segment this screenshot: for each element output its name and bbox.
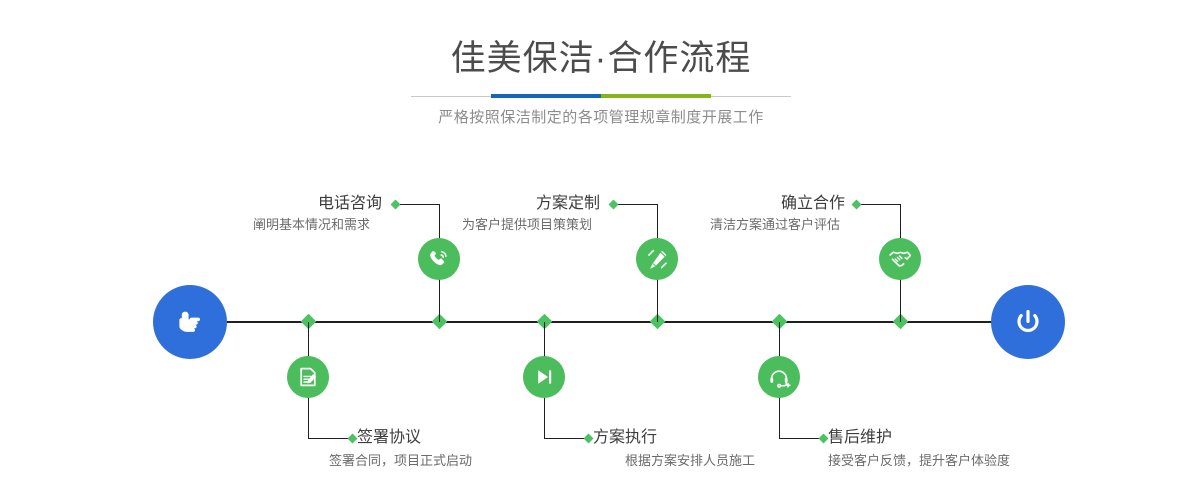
page-title: 佳美保洁·合作流程 bbox=[0, 38, 1202, 80]
headset-support-icon bbox=[767, 365, 792, 390]
step-title-3: 方案定制 bbox=[536, 194, 600, 214]
page-subtitle: 严格按照保洁制定的各项管理规章制度开展工作 bbox=[0, 106, 1202, 130]
phone-call-icon bbox=[426, 246, 452, 272]
step-icon-badge-2[interactable] bbox=[287, 356, 329, 398]
connector-horizontal-step-3 bbox=[614, 204, 658, 205]
step-icon-badge-1[interactable] bbox=[418, 238, 460, 280]
step-icon-badge-5[interactable] bbox=[879, 238, 921, 280]
connector-horizontal-step-2 bbox=[308, 438, 352, 439]
play-execute-icon bbox=[532, 365, 556, 389]
step-desc-2: 签署合同，项目正式启动 bbox=[329, 452, 472, 470]
pointing-hand-icon bbox=[170, 302, 210, 342]
divider-blue-segment bbox=[491, 94, 601, 98]
document-pencil-icon bbox=[296, 365, 320, 389]
step-title-5: 确立合作 bbox=[781, 194, 845, 214]
connector-tip-step-3 bbox=[609, 200, 619, 210]
title-divider bbox=[411, 94, 791, 98]
step-desc-1: 阐明基本情况和需求 bbox=[253, 216, 370, 234]
flow-start-endpoint bbox=[153, 285, 227, 359]
step-title-6: 售后维护 bbox=[828, 428, 892, 448]
step-icon-badge-4[interactable] bbox=[523, 356, 565, 398]
step-desc-6: 接受客户反馈，提升客户体验度 bbox=[828, 452, 1010, 470]
step-icon-badge-3[interactable] bbox=[636, 238, 678, 280]
connector-tip-step-2 bbox=[348, 434, 358, 444]
step-desc-5: 清洁方案通过客户评估 bbox=[710, 216, 840, 234]
handshake-icon bbox=[887, 246, 913, 272]
connector-tip-step-4 bbox=[584, 434, 594, 444]
connector-horizontal-step-6 bbox=[779, 438, 823, 439]
connector-horizontal-step-5 bbox=[857, 204, 901, 205]
infographic-canvas: 佳美保洁·合作流程 严格按照保洁制定的各项管理规章制度开展工作 bbox=[0, 0, 1202, 502]
step-title-2: 签署协议 bbox=[357, 428, 421, 448]
power-icon bbox=[1008, 302, 1048, 342]
connector-horizontal-step-4 bbox=[544, 438, 588, 439]
divider-green-segment bbox=[601, 94, 711, 98]
step-icon-badge-6[interactable] bbox=[758, 356, 800, 398]
connector-tip-step-6 bbox=[819, 434, 829, 444]
step-desc-4: 根据方案安排人员施工 bbox=[625, 452, 755, 470]
connector-horizontal-step-1 bbox=[396, 204, 440, 205]
connector-tip-step-1 bbox=[391, 200, 401, 210]
flow-end-endpoint bbox=[991, 285, 1065, 359]
step-desc-3: 为客户提供项目策策划 bbox=[462, 216, 592, 234]
connector-tip-step-5 bbox=[852, 200, 862, 210]
pencil-ruler-icon bbox=[645, 247, 670, 272]
step-title-1: 电话咨询 bbox=[318, 194, 382, 214]
step-title-4: 方案执行 bbox=[593, 428, 657, 448]
